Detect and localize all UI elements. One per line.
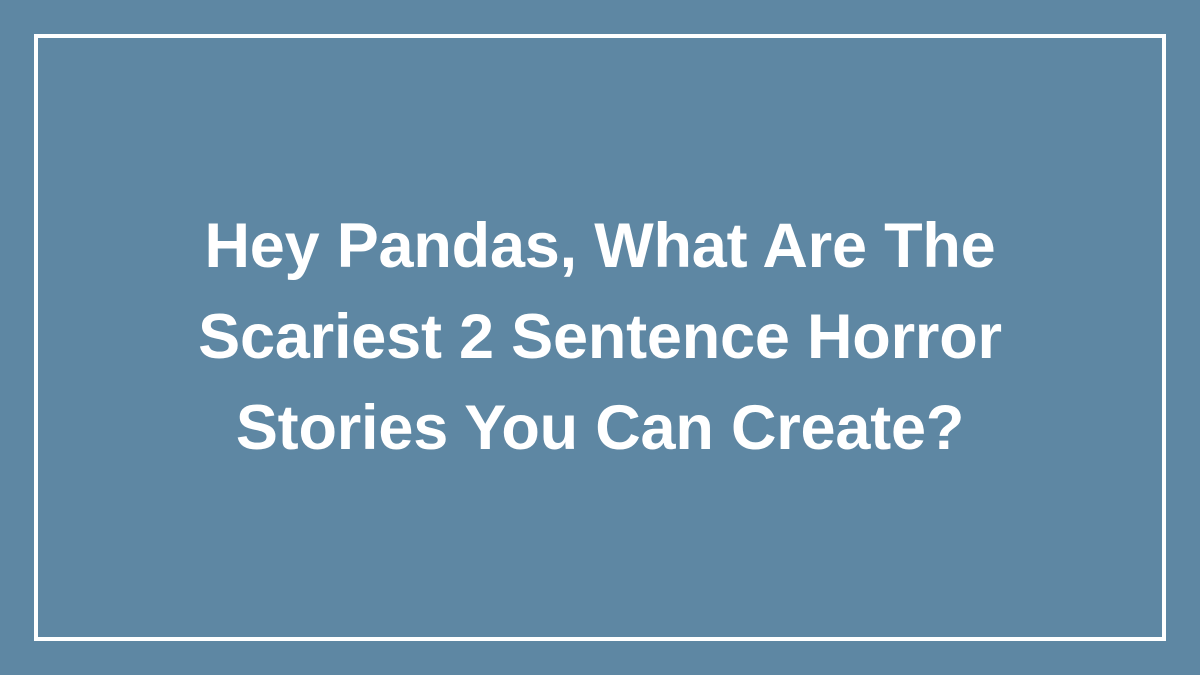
title-block: Hey Pandas, What Are The Scariest 2 Sent… [34, 34, 1166, 641]
social-share-card: Hey Pandas, What Are The Scariest 2 Sent… [0, 0, 1200, 675]
page-title: Hey Pandas, What Are The Scariest 2 Sent… [198, 201, 1002, 474]
